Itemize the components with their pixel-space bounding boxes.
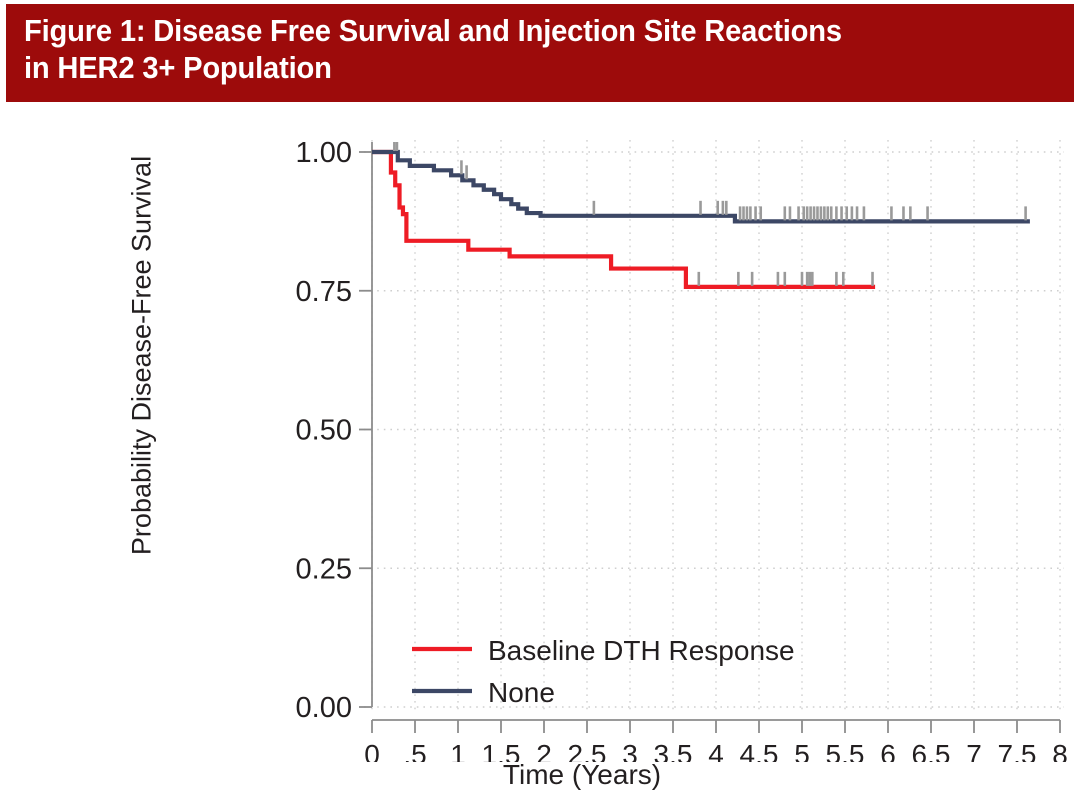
figure-title-banner: Figure 1: Disease Free Survival and Inje… [6,4,1074,102]
legend-label: Baseline DTH Response [488,635,795,666]
x-axis-ticks: 0.511.522.533.544.555.566.577.58 [364,720,1068,762]
legend-label: None [488,677,555,708]
gridlines [364,140,1064,712]
y-tick-label: 0.00 [296,692,352,724]
y-tick-label: 0.75 [296,276,352,308]
y-axis-label: Probability Disease-Free Survival [127,156,158,556]
survival-chart: 0.000.250.500.751.00 0.511.522.533.544.5… [0,102,1080,801]
y-tick-label: 1.00 [296,137,352,169]
chart-legend: Baseline DTH ResponseNone [412,635,795,708]
figure-page: Figure 1: Disease Free Survival and Inje… [0,0,1080,801]
y-tick-label: 0.25 [296,553,352,585]
figure-title-text: Figure 1: Disease Free Survival and Inje… [24,12,998,86]
x-axis-label: Time (Years) [0,759,1080,791]
y-axis-ticks: 0.000.250.500.751.00 [296,137,372,724]
y-tick-label: 0.50 [296,415,352,447]
censoring-marks [394,137,1025,286]
kaplan-meier-plot: 0.000.250.500.751.00 0.511.522.533.544.5… [0,102,1080,762]
